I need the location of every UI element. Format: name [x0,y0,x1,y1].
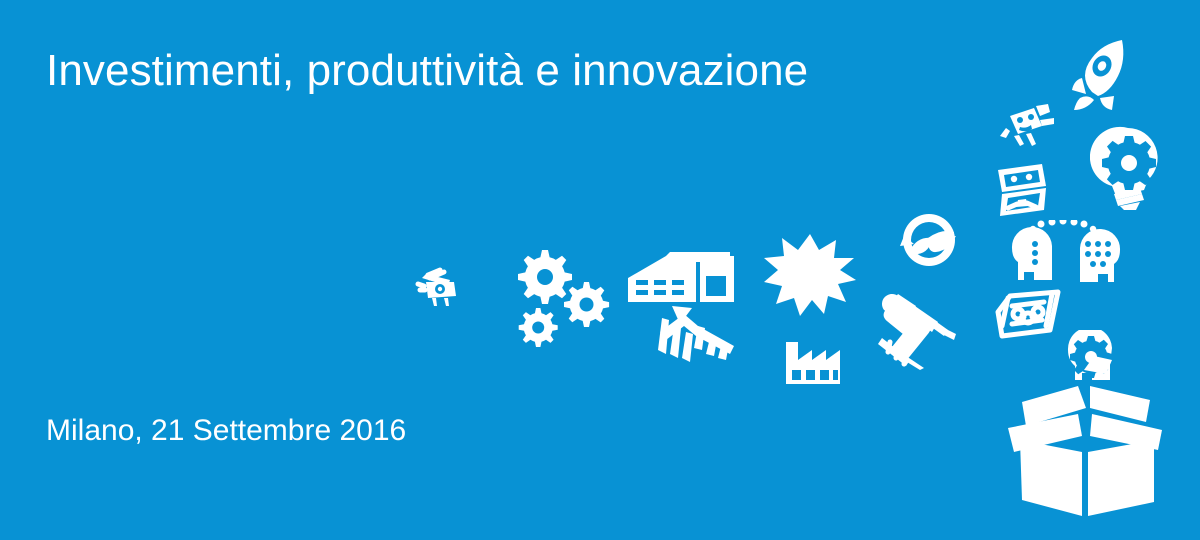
slide-subtitle: Milano, 21 Settembre 2016 [46,414,406,449]
blueprint-icon [992,284,1064,344]
flying-robot-icon [1000,102,1058,154]
open-box-icon [978,370,1190,518]
box-flap-fragment-icon [1082,354,1118,374]
eco-recycle-leaf-icon [898,212,960,268]
factory-icon [782,338,854,386]
growth-chart-icon [650,304,740,364]
industrial-building-icon [626,248,736,310]
gears-icon [510,248,620,352]
robot-face-icon [992,160,1052,218]
robotic-arm-icon [876,284,962,370]
robot-small-icon [414,266,466,308]
rocket-icon [1068,38,1136,112]
knowledge-transfer-heads-icon [1008,220,1124,292]
lightbulb-gear-icon [1090,126,1166,210]
presentation-slide: Investimenti, produttività e innovazione… [0,0,1200,540]
page-title: Investimenti, produttività e innovazione [46,46,808,97]
brain-burst-icon [762,232,858,318]
